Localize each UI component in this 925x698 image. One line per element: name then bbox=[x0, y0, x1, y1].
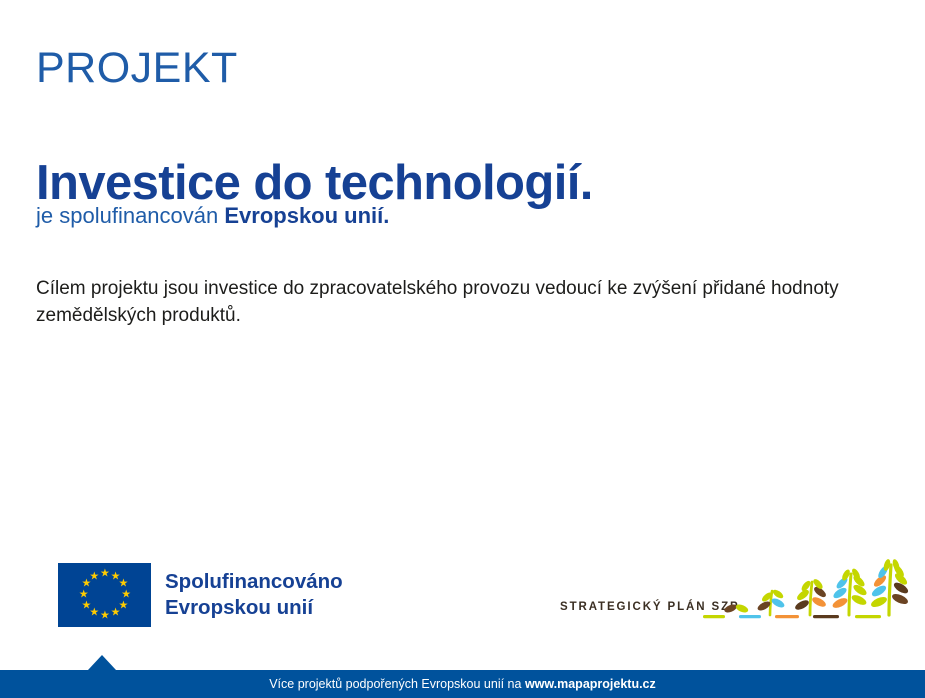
footer-text: Více projektů podpořených Evropskou unií… bbox=[0, 670, 925, 698]
eyebrow-label: PROJEKT bbox=[36, 42, 238, 94]
eu-star-icon: ★ bbox=[111, 609, 120, 618]
footer-text-prefix: Více projektů podpořených Evropskou unií… bbox=[269, 677, 525, 691]
eu-logo-text: Spolufinancováno Evropskou unií bbox=[165, 569, 343, 621]
bottom-bar-notch bbox=[88, 655, 116, 670]
footer-url[interactable]: www.mapaprojektu.cz bbox=[525, 677, 656, 691]
eu-star-icon: ★ bbox=[118, 580, 127, 589]
funding-statement-emphasis: Evropskou unií. bbox=[224, 203, 389, 228]
eu-star-icon: ★ bbox=[89, 572, 98, 581]
eu-star-icon: ★ bbox=[121, 591, 130, 600]
funding-statement: je spolufinancován Evropskou unií. bbox=[36, 202, 389, 230]
project-description: Cílem projektu jsou investice do zpracov… bbox=[36, 275, 881, 329]
eu-funding-logo: ★★★★★★★★★★★★ Spolufinancováno Evropskou … bbox=[58, 563, 343, 627]
sprout-growth-icon bbox=[703, 556, 912, 628]
project-poster: PROJEKT Investice do technologií. je spo… bbox=[0, 0, 925, 698]
eu-star-icon: ★ bbox=[100, 612, 109, 621]
eu-star-icon: ★ bbox=[100, 569, 109, 578]
eu-flag-icon: ★★★★★★★★★★★★ bbox=[58, 563, 151, 627]
szp-logo: STRATEGICKÝ PLÁN SZP bbox=[560, 556, 912, 628]
funding-statement-prefix: je spolufinancován bbox=[36, 203, 224, 228]
eu-star-icon: ★ bbox=[82, 601, 91, 610]
eu-star-icon: ★ bbox=[79, 591, 88, 600]
eu-logo-line-1: Spolufinancováno bbox=[165, 569, 343, 595]
eu-logo-line-2: Evropskou unií bbox=[165, 595, 343, 621]
